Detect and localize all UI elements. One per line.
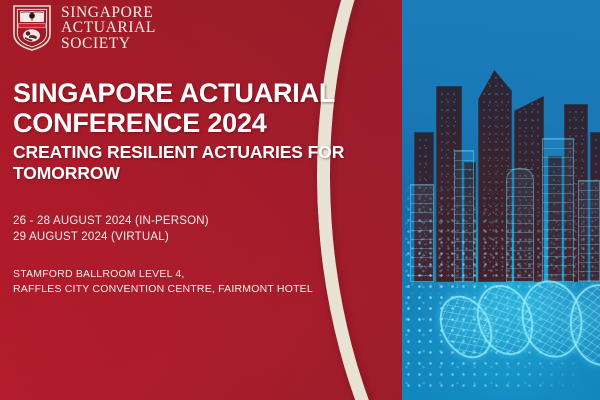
date-virtual: 29 AUGUST 2024 (VIRTUAL)	[13, 229, 443, 245]
conference-venue: STAMFORD BALLROOM LEVEL 4, RAFFLES CITY …	[13, 267, 443, 297]
society-logo: Singapore Actuarial Society	[12, 4, 156, 52]
society-name-line-1: Singapore	[61, 5, 156, 21]
date-in-person: 26 - 28 AUGUST 2024 (IN-PERSON)	[13, 213, 443, 229]
venue-line-1: STAMFORD BALLROOM LEVEL 4,	[13, 267, 443, 282]
conference-title: SINGAPORE ACTUARIAL CONFERENCE 2024	[13, 78, 443, 138]
dna-helix-icon	[438, 240, 600, 400]
conference-title-line-1: SINGAPORE ACTUARIAL	[13, 78, 443, 108]
society-name-line-2: Actuarial	[61, 20, 156, 36]
conference-tagline: CREATING RESILIENT ACTUARIES FOR TOMORRO…	[13, 142, 443, 184]
society-name-line-3: Society	[61, 36, 156, 52]
conference-dates: 26 - 28 AUGUST 2024 (IN-PERSON) 29 AUGUS…	[13, 213, 443, 245]
conference-banner: Singapore Actuarial Society SINGAPORE AC…	[0, 0, 600, 400]
society-name: Singapore Actuarial Society	[61, 5, 156, 52]
shield-crest-icon	[12, 4, 52, 52]
conference-title-line-2: CONFERENCE 2024	[13, 108, 443, 138]
venue-line-2: RAFFLES CITY CONVENTION CENTRE, FAIRMONT…	[13, 282, 443, 297]
banner-content: SINGAPORE ACTUARIAL CONFERENCE 2024 CREA…	[13, 78, 443, 297]
